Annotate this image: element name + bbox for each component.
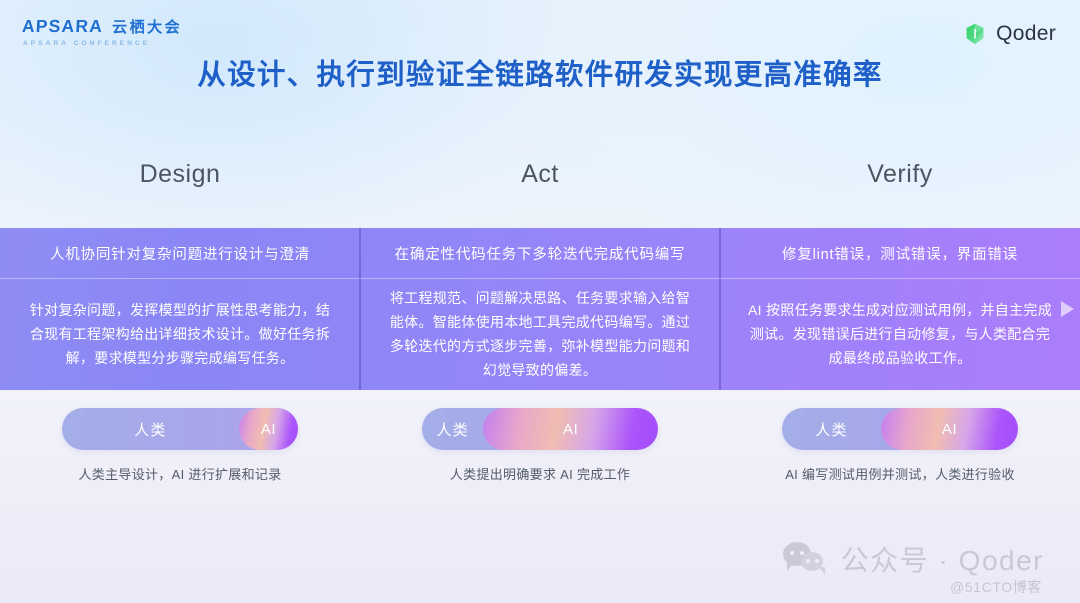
apsara-chinese-name: 云栖大会 (112, 16, 182, 37)
band-body-row: 针对复杂问题，发挥模型的扩展性思考能力，结合现有工程架构给出详细技术设计。做好任… (0, 278, 1080, 390)
band-column-divider-2 (719, 228, 721, 390)
split-column-act: 人类 AI 人类提出明确要求 AI 完成工作 (360, 408, 720, 483)
watermark: 公众号 · Qoder (783, 539, 1044, 579)
ai-label: AI (563, 421, 578, 438)
band-headline-text: 在确定性代码任务下多轮迭代完成代码编写 (395, 243, 686, 264)
human-label: 人类 (436, 419, 468, 440)
wechat-dot (806, 559, 810, 563)
band-body-text: 将工程规范、问题解决思路、任务要求输入给智能体。智能体使用本地工具完成代码编写。… (386, 286, 694, 382)
band-headline-text: 人机协同针对复杂问题进行设计与澄清 (50, 243, 310, 264)
watermark-credit: @51CTO博客 (950, 577, 1042, 597)
phase-heading-verify: Verify (720, 160, 1080, 189)
band-column-divider-1 (359, 228, 361, 390)
band-body-cell-design: 针对复杂问题，发挥模型的扩展性思考能力，结合现有工程架构给出详细技术设计。做好任… (0, 278, 360, 390)
human-ai-ratio-bar-act[interactable]: 人类 AI (422, 408, 658, 450)
ai-label-wrap: AI (881, 408, 1018, 450)
watermark-text: 公众号 · Qoder (841, 539, 1044, 579)
band-body-cell-act: 将工程规范、问题解决思路、任务要求输入给智能体。智能体使用本地工具完成代码编写。… (360, 278, 720, 390)
phase-detail-band: 人机协同针对复杂问题进行设计与澄清 在确定性代码任务下多轮迭代完成代码编写 修复… (0, 228, 1080, 390)
human-segment: 人类 (62, 408, 239, 450)
split-caption-design: 人类主导设计，AI 进行扩展和记录 (79, 464, 282, 483)
page-title: 从设计、执行到验证全链路软件研发实现更高准确率 (0, 52, 1080, 93)
ai-label-wrap: AI (239, 408, 298, 450)
band-headline-text: 修复lint错误，测试错误，界面错误 (782, 243, 1018, 264)
qoder-brand: Qoder (963, 22, 1056, 46)
band-headline-cell-verify: 修复lint错误，测试错误，界面错误 (720, 228, 1080, 278)
wechat-tail-front (819, 567, 825, 575)
split-column-design: 人类 AI 人类主导设计，AI 进行扩展和记录 (0, 408, 360, 483)
band-headline-row: 人机协同针对复杂问题进行设计与澄清 在确定性代码任务下多轮迭代完成代码编写 修复… (0, 228, 1080, 278)
apsara-brand-row: APSARA 云栖大会 (22, 16, 202, 37)
phase-heading-row: Design Act Verify (0, 160, 1080, 189)
phase-heading-act: Act (360, 160, 720, 189)
ai-label-wrap: AI (483, 408, 658, 450)
wechat-dot (790, 551, 794, 555)
human-segment: 人类 (422, 408, 483, 450)
slide-canvas: APSARA 云栖大会 APSARA CONFERENCE Qoder 从 (0, 0, 1080, 603)
ai-label: AI (261, 421, 276, 438)
split-column-verify: 人类 AI AI 编写测试用例并测试，人类进行验收 (720, 408, 1080, 483)
wechat-dot (815, 559, 819, 563)
band-body-text: 针对复杂问题，发挥模型的扩展性思考能力，结合现有工程架构给出详细技术设计。做好任… (26, 298, 334, 370)
apsara-wordmark-icon: APSARA (21, 16, 103, 37)
band-body-cell-verify: AI 按照任务要求生成对应测试用例，并自主完成测试。发现错误后进行自动修复，与人… (720, 278, 1080, 390)
qoder-logo-icon (963, 22, 987, 46)
split-caption-act: 人类提出明确要求 AI 完成工作 (450, 464, 630, 483)
band-body-text: AI 按照任务要求生成对应测试用例，并自主完成测试。发现错误后进行自动修复，与人… (746, 298, 1054, 370)
human-ai-ratio-bar-design[interactable]: 人类 AI (62, 408, 298, 450)
wechat-icon (783, 542, 827, 576)
human-ai-split-row: 人类 AI 人类主导设计，AI 进行扩展和记录 人类 AI 人类提出明确要求 A… (0, 408, 1080, 483)
arrow-right-icon (1061, 301, 1074, 317)
wechat-tail-back (787, 562, 794, 571)
wechat-dot (800, 551, 804, 555)
band-headline-cell-design: 人机协同针对复杂问题进行设计与澄清 (0, 228, 360, 278)
split-caption-verify: AI 编写测试用例并测试，人类进行验收 (785, 464, 1015, 483)
human-label: 人类 (815, 419, 847, 440)
human-label: 人类 (134, 419, 166, 440)
band-headline-cell-act: 在确定性代码任务下多轮迭代完成代码编写 (360, 228, 720, 278)
human-ai-ratio-bar-verify[interactable]: 人类 AI (782, 408, 1018, 450)
qoder-product-name: Qoder (996, 22, 1056, 46)
apsara-subtitle: APSARA CONFERENCE (22, 40, 202, 47)
apsara-brand-logo: APSARA 云栖大会 APSARA CONFERENCE (22, 16, 202, 47)
ai-label: AI (942, 421, 957, 438)
human-segment: 人类 (782, 408, 881, 450)
phase-heading-design: Design (0, 160, 360, 189)
